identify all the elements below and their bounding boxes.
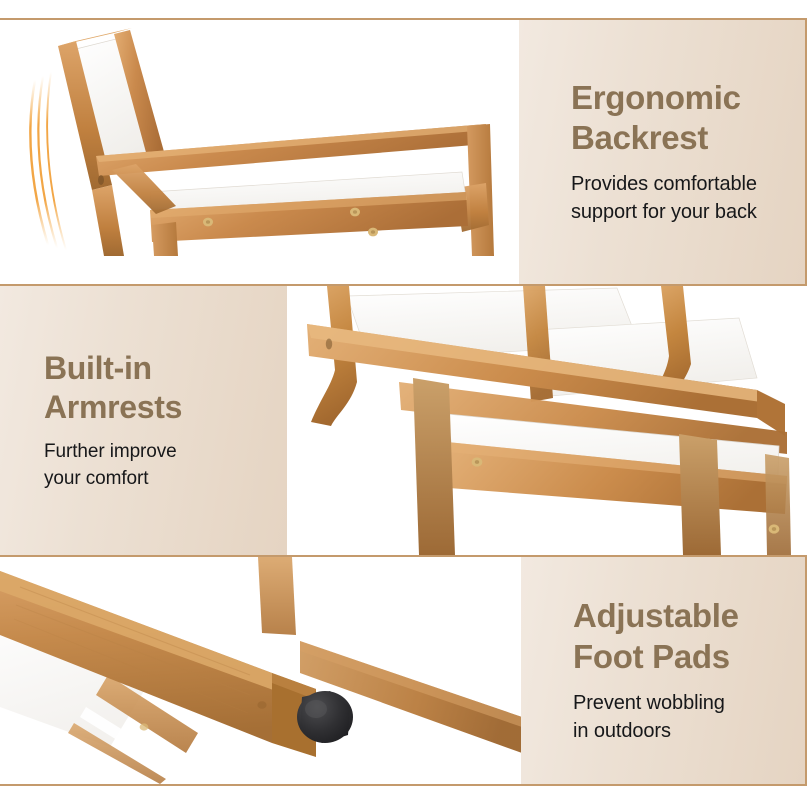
subtext-built-in-armrests: Further improve your comfort (44, 439, 263, 492)
caption-built-in-armrests: Built-in Armrests Further improve your c… (0, 286, 287, 555)
caption-adjustable-foot-pads: Adjustable Foot Pads Prevent wobbling in… (521, 557, 807, 784)
subtext-line-2: in outdoors (573, 720, 671, 742)
headline-adjustable-foot-pads: Adjustable Foot Pads (573, 596, 781, 677)
divider-rule-top (0, 18, 807, 20)
headline-line-2: Foot Pads (573, 638, 730, 675)
foot-pad (297, 691, 353, 743)
subtext-line-2: your comfort (44, 468, 148, 489)
infographic-sheet: Ergonomic Backrest Provides comfortable … (0, 0, 807, 807)
chair-side-profile-illustration (0, 20, 520, 284)
divider-rule-1 (0, 284, 807, 286)
divider-rule-2 (0, 555, 807, 557)
subtext-adjustable-foot-pads: Prevent wobbling in outdoors (573, 689, 781, 745)
subtext-line-2: support for your back (571, 201, 757, 223)
headline-ergonomic-backrest: Ergonomic Backrest (571, 78, 781, 159)
feature-panel-adjustable-foot-pads: Adjustable Foot Pads Prevent wobbling in… (0, 557, 807, 784)
headline-built-in-armrests: Built-in Armrests (44, 349, 263, 427)
subtext-ergonomic-backrest: Provides comfortable support for your ba… (571, 170, 781, 226)
subtext-line-1: Prevent wobbling (573, 692, 725, 714)
caption-ergonomic-backrest: Ergonomic Backrest Provides comfortable … (519, 20, 807, 284)
headline-line-1: Ergonomic (571, 79, 741, 116)
headline-line-1: Adjustable (573, 597, 739, 634)
headline-line-2: Backrest (571, 119, 708, 156)
ergonomic-curve-guides (30, 72, 66, 250)
foot-pad-closeup-illustration (0, 557, 522, 784)
divider-rule-bottom (0, 784, 807, 786)
feature-panel-built-in-armrests: Built-in Armrests Further improve your c… (0, 286, 807, 555)
subtext-line-1: Further improve (44, 441, 177, 462)
headline-line-2: Armrests (44, 389, 182, 425)
subtext-line-1: Provides comfortable (571, 173, 757, 195)
headline-line-1: Built-in (44, 350, 152, 386)
armrest-closeup-illustration (287, 286, 807, 555)
feature-panel-ergonomic-backrest: Ergonomic Backrest Provides comfortable … (0, 20, 807, 284)
